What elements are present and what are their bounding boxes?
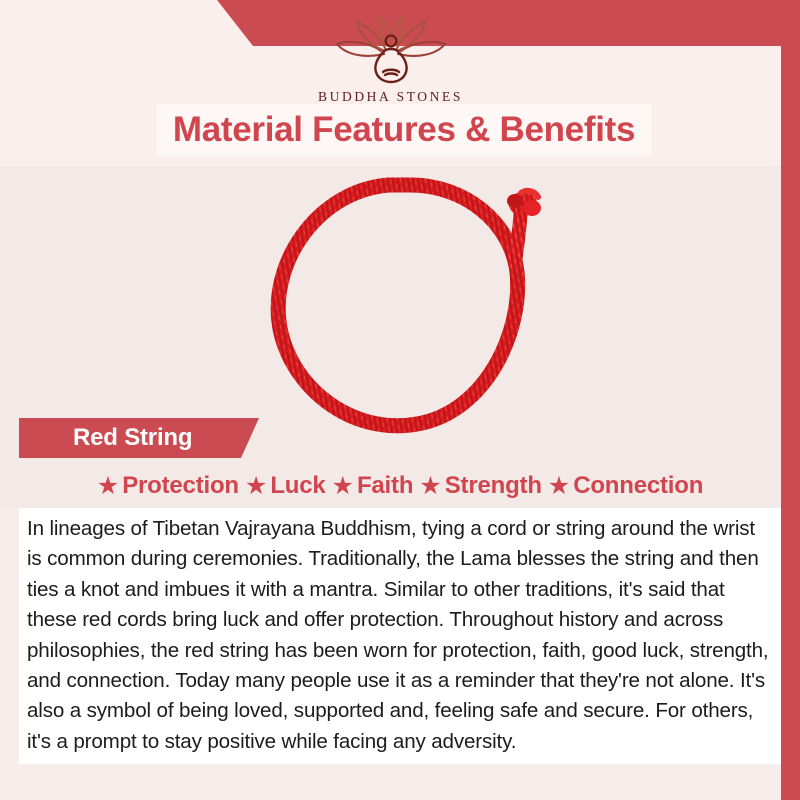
section-ribbon-label: Red String	[73, 424, 192, 452]
description-card: In lineages of Tibetan Vajrayana Buddhis…	[19, 508, 781, 764]
decorative-right-bar	[781, 0, 800, 800]
page-title: Material Features & Benefits	[173, 110, 635, 150]
star-icon: ★	[97, 474, 119, 499]
page-title-band: Material Features & Benefits	[157, 104, 651, 156]
lotus-meditation-icon	[323, 14, 459, 86]
section-ribbon: Red String	[19, 418, 259, 458]
feature-label: Connection	[573, 472, 703, 500]
feature-item-connection: ★ Connection	[548, 472, 703, 500]
feature-label: Faith	[357, 472, 413, 500]
brand-logo: BUDDHA STONES	[0, 14, 781, 105]
feature-label: Strength	[445, 472, 542, 500]
star-icon: ★	[332, 474, 354, 499]
feature-item-protection: ★ Protection	[97, 472, 239, 500]
feature-item-strength: ★ Strength	[419, 472, 541, 500]
star-icon: ★	[419, 474, 441, 499]
description-text: In lineages of Tibetan Vajrayana Buddhis…	[27, 514, 771, 757]
feature-label: Protection	[122, 472, 239, 500]
brand-name: BUDDHA STONES	[318, 89, 463, 105]
star-icon: ★	[548, 474, 570, 499]
feature-label: Luck	[270, 472, 325, 500]
feature-list: ★ Protection ★ Luck ★ Faith ★ Strength ★…	[19, 466, 781, 506]
feature-item-faith: ★ Faith	[332, 472, 414, 500]
star-icon: ★	[245, 474, 267, 499]
infographic-canvas: BUDDHA STONES Material Features & Benefi…	[0, 0, 800, 800]
product-image	[249, 162, 571, 464]
feature-item-luck: ★ Luck	[245, 472, 326, 500]
